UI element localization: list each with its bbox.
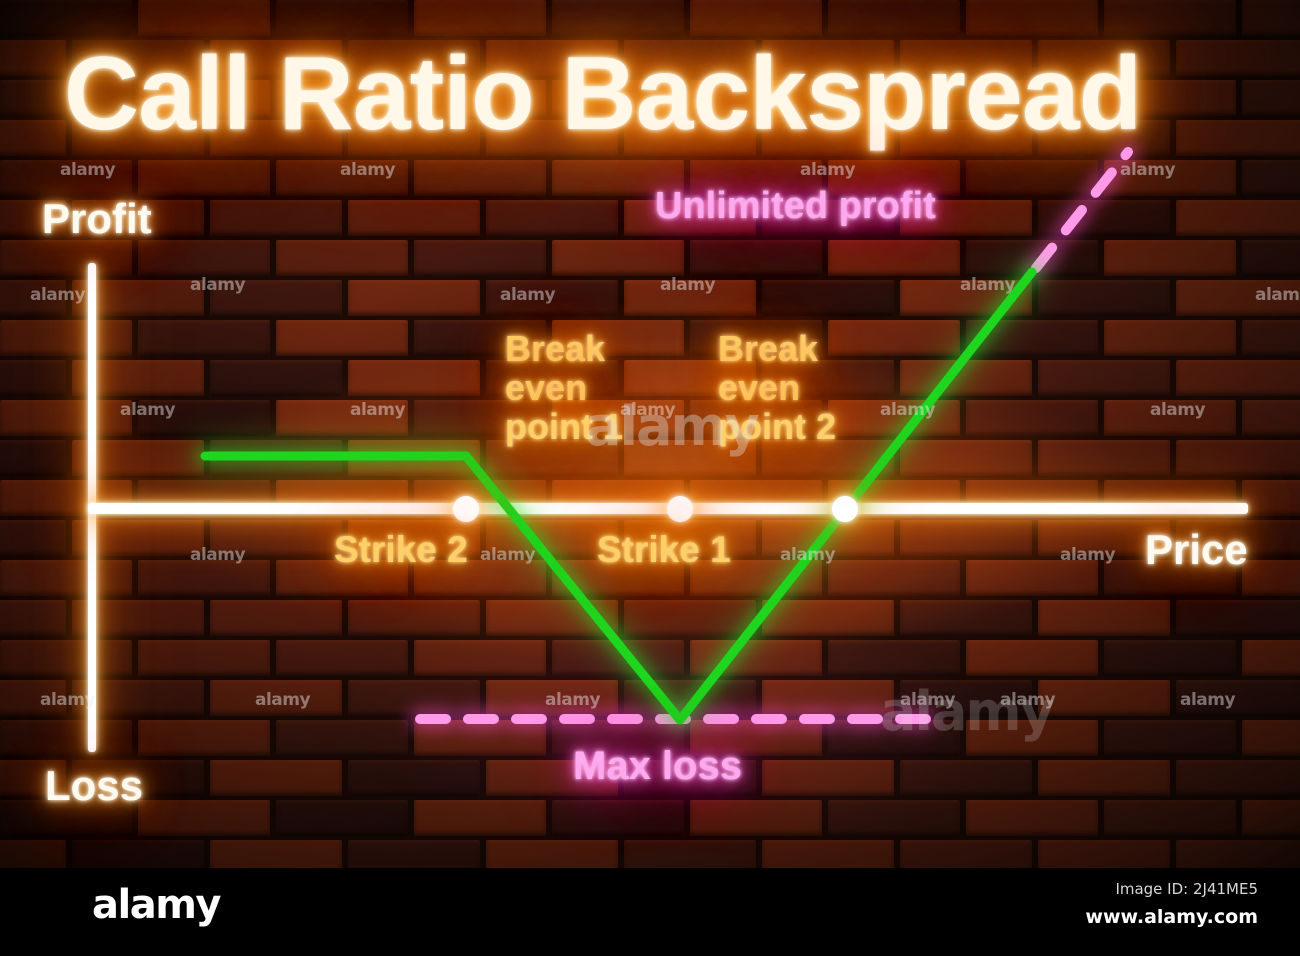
- break-even-point-1-label: Break even point 1: [505, 330, 623, 447]
- brick: [1176, 40, 1300, 76]
- brick: [762, 760, 894, 796]
- brick: [690, 0, 822, 36]
- brick: [762, 600, 894, 636]
- brick: [1104, 160, 1236, 196]
- brick: [1242, 240, 1300, 276]
- brick: [0, 640, 132, 676]
- brick: [0, 600, 66, 636]
- brick: [900, 760, 1032, 796]
- brick: [1038, 200, 1170, 236]
- brick: [0, 560, 132, 596]
- marker-dot-strike-2: [453, 496, 479, 522]
- brick: [276, 0, 408, 36]
- brick: [624, 680, 756, 716]
- brick-row: [0, 240, 1300, 280]
- brick: [0, 280, 66, 316]
- brick: [0, 40, 66, 76]
- unlimited-profit-label: Unlimited profit: [655, 186, 936, 227]
- brick: [1038, 280, 1170, 316]
- brick: [828, 560, 960, 596]
- brick: [900, 840, 1032, 868]
- brick: [0, 160, 132, 196]
- brick: [1176, 600, 1300, 636]
- brick: [966, 160, 1098, 196]
- brick: [138, 0, 270, 36]
- brick: [414, 720, 546, 756]
- brick-row: [0, 160, 1300, 200]
- brick: [1242, 320, 1300, 356]
- brick: [966, 800, 1098, 836]
- brick: [552, 800, 684, 836]
- brick: [900, 680, 1032, 716]
- brick: [1104, 640, 1236, 676]
- brick: [624, 600, 756, 636]
- brick: [552, 240, 684, 276]
- brick: [1242, 640, 1300, 676]
- brick: [1104, 320, 1236, 356]
- brick: [486, 280, 618, 316]
- brick: [0, 440, 66, 476]
- brick: [486, 840, 618, 868]
- brick: [276, 160, 408, 196]
- brick: [900, 280, 1032, 316]
- brick: [624, 840, 756, 868]
- brick: [1038, 440, 1170, 476]
- footer-bar: alamy Image ID: 2J41ME5 www.alamy.com: [0, 868, 1300, 956]
- brick: [348, 280, 480, 316]
- brick: [1038, 760, 1170, 796]
- brick: [1038, 360, 1170, 396]
- brick-row: [0, 0, 1300, 40]
- break-even-point-2-label: Break even point 2: [718, 330, 836, 447]
- brick-row: [0, 360, 1300, 400]
- brick: [1038, 680, 1170, 716]
- strike-2-label: Strike 2: [334, 530, 468, 570]
- brick-row: [0, 840, 1300, 868]
- brick: [690, 240, 822, 276]
- brick: [1242, 400, 1300, 436]
- brick-row: [0, 320, 1300, 360]
- brick: [1242, 560, 1300, 596]
- brick: [210, 840, 342, 868]
- brick: [828, 400, 960, 436]
- brick: [210, 280, 342, 316]
- brick: [1104, 720, 1236, 756]
- strike-1-label: Strike 1: [597, 530, 731, 570]
- brick: [828, 240, 960, 276]
- brick: [1242, 800, 1300, 836]
- brick: [1104, 0, 1236, 36]
- brick: [138, 240, 270, 276]
- brick: [210, 600, 342, 636]
- brick: [966, 320, 1098, 356]
- brick: [828, 720, 960, 756]
- brick: [348, 200, 480, 236]
- brick: [966, 240, 1098, 276]
- brick: [966, 640, 1098, 676]
- brick: [0, 400, 132, 436]
- brick: [0, 720, 132, 756]
- brick: [1038, 840, 1170, 868]
- brick: [966, 560, 1098, 596]
- brick: [762, 680, 894, 716]
- brick: [828, 320, 960, 356]
- brick: [0, 320, 132, 356]
- brick: [348, 760, 480, 796]
- brick: [414, 240, 546, 276]
- alamy-url[interactable]: www.alamy.com: [1085, 906, 1258, 928]
- brick: [138, 160, 270, 196]
- brick: [1176, 280, 1300, 316]
- y-axis-top-label: Profit: [42, 196, 152, 241]
- brick: [0, 840, 66, 868]
- brick: [210, 680, 342, 716]
- brick: [348, 680, 480, 716]
- brick: [348, 360, 480, 396]
- brick: [1242, 160, 1300, 196]
- brick-row: [0, 800, 1300, 840]
- brick: [828, 800, 960, 836]
- brick: [348, 440, 480, 476]
- brick: [348, 840, 480, 868]
- brick: [348, 600, 480, 636]
- brick: [414, 160, 546, 196]
- brick: [276, 400, 408, 436]
- brick: [276, 720, 408, 756]
- brick-row: [0, 280, 1300, 320]
- brick: [0, 240, 132, 276]
- brick: [1176, 760, 1300, 796]
- brick-row: [0, 480, 1300, 520]
- brick: [828, 640, 960, 676]
- brick: [0, 520, 66, 556]
- brick: [72, 840, 204, 868]
- brick-row: [0, 640, 1300, 680]
- brick: [486, 200, 618, 236]
- brick: [1104, 400, 1236, 436]
- marker-dot-strike-1: [667, 496, 693, 522]
- brick: [1242, 0, 1300, 36]
- brick: [486, 600, 618, 636]
- brick: [210, 520, 342, 556]
- brick: [1176, 120, 1300, 156]
- brick: [138, 320, 270, 356]
- brick: [210, 440, 342, 476]
- brick-row: [0, 680, 1300, 720]
- brick: [138, 400, 270, 436]
- brick-row: [0, 200, 1300, 240]
- brick: [0, 0, 132, 36]
- brick: [1176, 840, 1300, 868]
- brick: [210, 760, 342, 796]
- brick: [624, 280, 756, 316]
- brick-row: [0, 400, 1300, 440]
- brick: [1104, 800, 1236, 836]
- brick: [0, 120, 66, 156]
- brick: [138, 720, 270, 756]
- brick: [210, 360, 342, 396]
- brick: [762, 840, 894, 868]
- marker-dot-break-even-point-2: [832, 496, 858, 522]
- brick: [1104, 240, 1236, 276]
- image-id-text: Image ID: 2J41ME5: [1115, 880, 1258, 898]
- brick: [1242, 80, 1300, 116]
- brick: [1038, 600, 1170, 636]
- brick: [414, 0, 546, 36]
- brick: [1176, 200, 1300, 236]
- brick: [276, 320, 408, 356]
- y-axis-bottom-label: Loss: [45, 763, 143, 808]
- brick: [1176, 440, 1300, 476]
- brick: [828, 0, 960, 36]
- brick: [690, 640, 822, 676]
- brick: [900, 520, 1032, 556]
- alamy-logo: alamy: [92, 882, 220, 928]
- brick-row: [0, 600, 1300, 640]
- brick: [900, 360, 1032, 396]
- brick: [966, 0, 1098, 36]
- x-axis-label: Price: [1145, 527, 1248, 572]
- brick: [138, 560, 270, 596]
- brick: [414, 640, 546, 676]
- brick: [690, 800, 822, 836]
- brick: [552, 640, 684, 676]
- brick: [276, 640, 408, 676]
- max-loss-label: Max loss: [573, 745, 742, 788]
- brick: [1176, 680, 1300, 716]
- brick: [762, 280, 894, 316]
- brick: [138, 640, 270, 676]
- brick-row: [0, 440, 1300, 480]
- brick: [486, 680, 618, 716]
- brick: [414, 800, 546, 836]
- brick: [210, 200, 342, 236]
- brick: [762, 520, 894, 556]
- brick: [1242, 720, 1300, 756]
- brick: [900, 600, 1032, 636]
- brick: [0, 360, 66, 396]
- brick: [1242, 480, 1300, 516]
- brick: [966, 400, 1098, 436]
- brick: [276, 240, 408, 276]
- brick: [966, 720, 1098, 756]
- page-title: Call Ratio Backspread: [64, 38, 1141, 150]
- neon-chart-image: Call Ratio Backspread Profit Loss Price …: [0, 0, 1300, 956]
- brick: [276, 800, 408, 836]
- brick: [138, 800, 270, 836]
- brick: [900, 440, 1032, 476]
- brick: [1176, 360, 1300, 396]
- brick: [552, 0, 684, 36]
- brick: [0, 680, 66, 716]
